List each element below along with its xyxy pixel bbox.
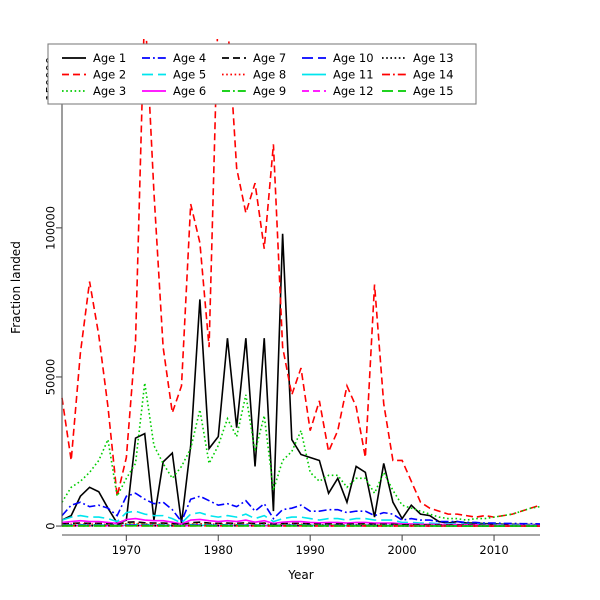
x-tick-label: 2010 — [479, 543, 508, 557]
legend-layer: Age 1Age 2Age 3Age 4Age 5Age 6Age 7Age 8… — [48, 44, 476, 104]
legend-label-age-4[interactable]: Age 4 — [173, 51, 206, 65]
legend-label-age-1[interactable]: Age 1 — [93, 51, 126, 65]
legend-label-age-12[interactable]: Age 12 — [333, 84, 374, 98]
legend-label-age-9[interactable]: Age 9 — [253, 84, 286, 98]
legend-label-age-2[interactable]: Age 2 — [93, 68, 126, 82]
x-tick-label: 1980 — [204, 543, 233, 557]
legend-label-age-10[interactable]: Age 10 — [333, 51, 374, 65]
legend-label-age-3[interactable]: Age 3 — [93, 84, 126, 98]
line-chart: 05000010000015000019701980199020002010Ye… — [0, 0, 600, 600]
x-tick-label: 1990 — [296, 543, 325, 557]
legend-label-age-7[interactable]: Age 7 — [253, 51, 286, 65]
legend-label-age-6[interactable]: Age 6 — [173, 84, 206, 98]
legend-label-age-14[interactable]: Age 14 — [413, 68, 454, 82]
y-tick-label: 100000 — [44, 206, 58, 250]
x-axis-title: Year — [287, 568, 313, 582]
x-tick-label: 1970 — [112, 543, 141, 557]
y-tick-label: 50000 — [44, 359, 58, 396]
chart-page: 05000010000015000019701980199020002010Ye… — [0, 0, 600, 600]
legend-label-age-15[interactable]: Age 15 — [413, 84, 454, 98]
x-tick-label: 2000 — [387, 543, 416, 557]
y-axis-title: Fraction landed — [9, 241, 23, 334]
y-tick-label: 0 — [44, 522, 58, 529]
legend-label-age-11[interactable]: Age 11 — [333, 68, 374, 82]
legend-label-age-8[interactable]: Age 8 — [253, 68, 286, 82]
legend-label-age-5[interactable]: Age 5 — [173, 68, 206, 82]
legend-label-age-13[interactable]: Age 13 — [413, 51, 454, 65]
